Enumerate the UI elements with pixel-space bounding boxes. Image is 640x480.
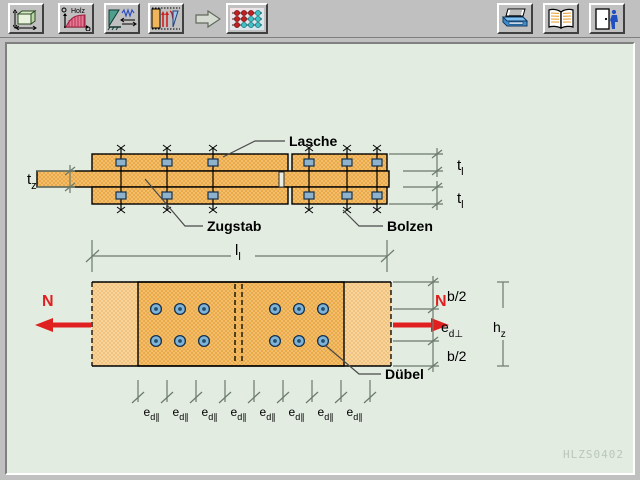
analysis-button[interactable] <box>148 3 184 34</box>
joint-gap <box>279 172 284 187</box>
exit-button[interactable] <box>589 3 625 34</box>
svg-text:tl: tl <box>457 157 464 178</box>
holz-stress-strain-icon: Holz <box>61 7 91 31</box>
dim-tl-top-sub: l <box>461 166 463 178</box>
duebel-callout-label: Dübel <box>385 366 424 382</box>
results-button[interactable] <box>226 3 268 34</box>
section-forces-icon <box>151 7 181 31</box>
printer-icon <box>501 8 529 30</box>
main-toolbar: Holz <box>0 0 640 38</box>
technical-drawing: tz tl <box>7 44 633 473</box>
dim-ed-parallel: ed∥ <box>231 405 247 422</box>
dim-hz-base: h <box>493 319 501 335</box>
dimension-ll: ll <box>86 240 394 272</box>
elevation-view <box>37 145 389 213</box>
arrow-right-icon <box>195 10 221 28</box>
exit-door-icon <box>594 8 620 30</box>
bolzen-callout: Bolzen <box>343 210 433 234</box>
dim-b-half-top: b/2 <box>447 288 467 304</box>
dim-ll-sub: l <box>238 251 240 263</box>
book-icon <box>547 8 575 30</box>
drawing-canvas[interactable]: tz tl <box>5 42 635 475</box>
print-button[interactable] <box>497 3 533 34</box>
dim-tz-sub: z <box>31 180 37 192</box>
force-left: N <box>35 293 91 332</box>
dim-ed-perp-base: e <box>441 319 449 335</box>
material-button[interactable]: Holz <box>58 3 94 34</box>
dim-ed-parallel: ed∥ <box>318 405 334 422</box>
watermark: HLZS0402 <box>563 448 624 461</box>
plan-view <box>92 282 391 366</box>
help-button[interactable] <box>543 3 579 34</box>
svg-text:ll: ll <box>235 242 241 263</box>
plan-left-extension <box>92 282 138 366</box>
plan-main-body <box>138 282 344 366</box>
dim-ed-parallel: ed∥ <box>289 405 305 422</box>
dim-ed-parallel: ed∥ <box>202 405 218 422</box>
svg-text:ed⊥: ed⊥ <box>441 319 463 340</box>
dowel-pattern-icon <box>229 7 265 31</box>
dim-b-half-bottom: b/2 <box>447 348 467 364</box>
dim-ed-perp-sub: d⊥ <box>449 329 463 340</box>
force-left-label: N <box>42 293 54 310</box>
dim-ed-parallel: ed∥ <box>347 405 363 422</box>
box-dimensions-icon <box>13 8 39 30</box>
svg-text:tl: tl <box>457 190 464 211</box>
dim-ed-parallel: ed∥ <box>144 405 160 422</box>
dimension-tl-top: tl <box>389 148 464 178</box>
dim-ed-parallel: ed∥ <box>173 405 189 422</box>
geometry-button[interactable] <box>8 3 44 34</box>
force-right-label: N <box>435 293 447 310</box>
loads-button[interactable] <box>104 3 140 34</box>
svg-text:Holz: Holz <box>71 8 86 15</box>
lasche-callout-label: Lasche <box>289 133 337 149</box>
dimension-tl-bottom: tl <box>389 181 464 211</box>
bolzen-callout-label: Bolzen <box>387 218 433 234</box>
svg-text:tz: tz <box>27 171 37 192</box>
application-window: Holz <box>0 0 640 480</box>
svg-text:hz: hz <box>493 319 506 340</box>
dimension-ed-parallel-chain: ed∥ed∥ed∥ed∥ed∥ed∥ed∥ed∥ <box>132 380 376 422</box>
dim-tl-bottom-sub: l <box>461 199 463 211</box>
plan-right-extension <box>344 282 391 366</box>
dim-hz-sub: z <box>501 329 506 340</box>
zugstab-callout-label: Zugstab <box>207 218 261 234</box>
support-spring-icon <box>107 7 137 31</box>
dim-ed-parallel: ed∥ <box>260 405 276 422</box>
